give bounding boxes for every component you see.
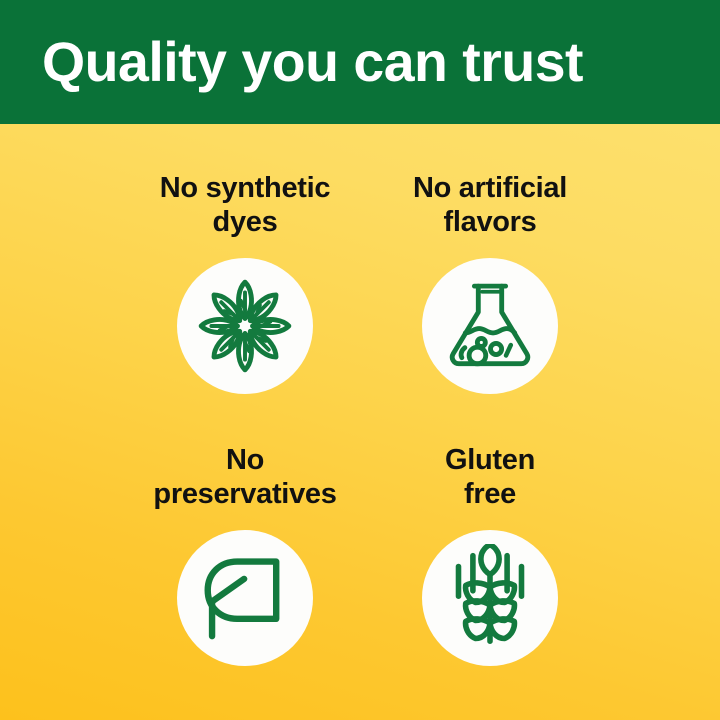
feature-label: No synthetic dyes [160, 172, 330, 240]
feature-item-gluten-free: Gluten free [340, 444, 640, 666]
feature-label: Gluten free [445, 444, 535, 512]
feature-icon-badge [422, 258, 558, 394]
feature-icon-badge [177, 530, 313, 666]
leaf-icon [193, 546, 297, 650]
feature-icon-badge [422, 530, 558, 666]
feature-grid: No synthetic dyes [0, 124, 720, 720]
feature-icon-badge [177, 258, 313, 394]
flask-icon [438, 274, 542, 378]
feature-item-no-artificial-flavors: No artificial flavors [340, 172, 640, 394]
wheat-icon [436, 544, 544, 652]
page-title: Quality you can trust [42, 34, 583, 90]
dye-splatter-icon [189, 270, 301, 382]
feature-label: No preservatives [153, 444, 336, 512]
quality-badges-panel: Quality you can trust No synthetic dyes [0, 0, 720, 720]
header-banner: Quality you can trust [0, 0, 720, 124]
feature-label: No artificial flavors [413, 172, 567, 240]
